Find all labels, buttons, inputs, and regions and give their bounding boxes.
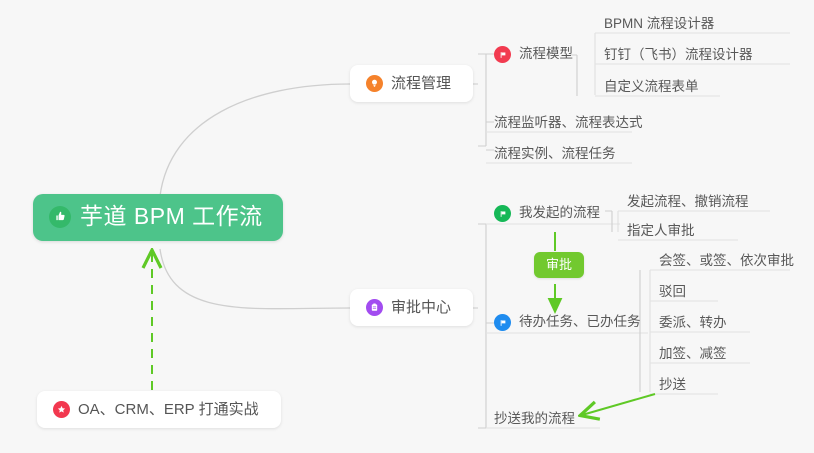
leaf-label-assigned-approver: 指定人审批 [627, 223, 695, 239]
tag-node-approve[interactable]: 审批 [534, 252, 584, 278]
flag-icon [494, 46, 511, 63]
leaf-node-todo-done-tasks[interactable]: 待办任务、已办任务 [490, 310, 649, 337]
branch-node-process-management[interactable]: 流程管理 [350, 65, 473, 102]
tag-label-approve: 审批 [546, 258, 572, 271]
leaf-label-process-listener-expression: 流程监听器、流程表达式 [494, 115, 643, 131]
thumbs-up-icon [49, 206, 71, 228]
root-label: 芋道 BPM 工作流 [80, 205, 263, 228]
connector-root-to-process-management [160, 84, 350, 196]
connector-root-to-approval-center [160, 249, 350, 309]
leaf-label-todo-done-tasks: 待办任务、已办任务 [519, 314, 641, 330]
leaf-label-bpmn-designer: BPMN 流程设计器 [604, 16, 714, 32]
leaf-label-my-initiated-process: 我发起的流程 [519, 205, 600, 221]
leaf-label-countersign-or-sequential: 会签、或签、依次审批 [659, 253, 794, 269]
leaf-node-cc[interactable]: 抄送 [655, 373, 694, 399]
leaf-label-cc: 抄送 [659, 377, 686, 393]
leaf-node-add-remove-sign[interactable]: 加签、减签 [655, 342, 735, 368]
leaf-node-cc-to-me-process[interactable]: 抄送我的流程 [490, 407, 583, 433]
root-node[interactable]: 芋道 BPM 工作流 [33, 194, 283, 241]
star-icon [53, 401, 70, 418]
leaf-node-custom-process-form[interactable]: 自定义流程表单 [600, 75, 707, 101]
mindmap-canvas: 芋道 BPM 工作流 流程管理 审批中心 [0, 0, 814, 453]
leaf-node-assigned-approver[interactable]: 指定人审批 [623, 219, 703, 245]
leaf-label-process-instance-task: 流程实例、流程任务 [494, 146, 616, 162]
leaf-node-delegate-transfer[interactable]: 委派、转办 [655, 311, 735, 337]
arrow-cc-to-my-cc-process [582, 394, 655, 415]
leaf-label-cc-to-me-process: 抄送我的流程 [494, 411, 575, 427]
leaf-label-process-model: 流程模型 [519, 46, 573, 62]
leaf-node-dingtalk-feishu-designer[interactable]: 钉钉（飞书）流程设计器 [600, 43, 761, 69]
flag-icon [494, 314, 511, 331]
leaf-node-countersign-or-sequential[interactable]: 会签、或签、依次审批 [655, 249, 802, 275]
leaf-label-reject: 驳回 [659, 284, 686, 300]
footer-label-integration-practice: OA、CRM、ERP 打通实战 [78, 402, 259, 417]
leaf-label-delegate-transfer: 委派、转办 [659, 315, 727, 331]
branch-label-process-management: 流程管理 [391, 76, 451, 91]
leaf-node-bpmn-designer[interactable]: BPMN 流程设计器 [600, 12, 722, 38]
leaf-node-process-instance-task[interactable]: 流程实例、流程任务 [490, 142, 624, 168]
leaf-label-custom-process-form: 自定义流程表单 [604, 79, 699, 95]
flag-icon [494, 205, 511, 222]
branch-node-approval-center[interactable]: 审批中心 [350, 289, 473, 326]
lightbulb-icon [366, 75, 383, 92]
leaf-label-add-remove-sign: 加签、减签 [659, 346, 727, 362]
leaf-node-process-model[interactable]: 流程模型 [490, 42, 581, 69]
leaf-node-my-initiated-process[interactable]: 我发起的流程 [490, 201, 608, 228]
leaf-node-start-cancel-process[interactable]: 发起流程、撤销流程 [623, 190, 757, 216]
connector-approval-center-bracket [478, 224, 486, 428]
leaf-label-dingtalk-feishu-designer: 钉钉（飞书）流程设计器 [604, 47, 753, 63]
footer-node-integration-practice[interactable]: OA、CRM、ERP 打通实战 [37, 391, 281, 428]
clipboard-icon [366, 299, 383, 316]
connector-process-management-bracket [478, 54, 486, 146]
branch-label-approval-center: 审批中心 [391, 300, 451, 315]
leaf-node-process-listener-expression[interactable]: 流程监听器、流程表达式 [490, 111, 651, 137]
leaf-node-reject[interactable]: 驳回 [655, 280, 694, 306]
leaf-label-start-cancel-process: 发起流程、撤销流程 [627, 194, 749, 210]
